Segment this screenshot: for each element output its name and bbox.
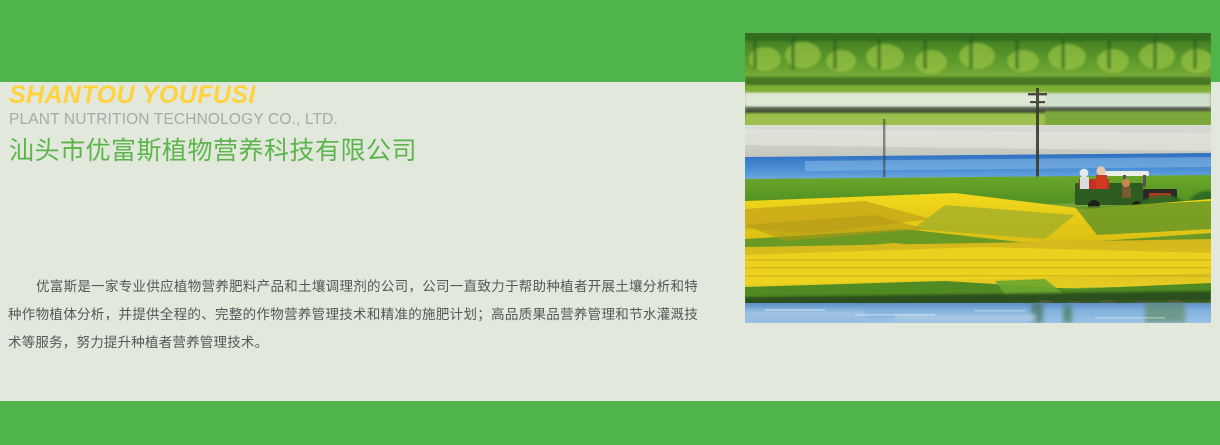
company-description-paragraph: 优富斯是一家专业供应植物营养肥料产品和土壤调理剂的公司，公司一直致力于帮助种植者… (8, 273, 698, 357)
footer-green-band (0, 401, 1220, 445)
company-name-english: SHANTOU YOUFUSI (9, 82, 709, 108)
company-name-chinese: 汕头市优富斯植物营养科技有限公司 (9, 135, 709, 168)
farmland-photo (745, 33, 1211, 323)
company-profile-page: SHANTOU YOUFUSI PLANT NUTRITION TECHNOLO… (0, 0, 1220, 445)
farmland-photo-image (745, 33, 1211, 323)
company-tagline-english: PLANT NUTRITION TECHNOLOGY CO., LTD. (9, 110, 709, 131)
brand-block: SHANTOU YOUFUSI PLANT NUTRITION TECHNOLO… (9, 82, 709, 168)
